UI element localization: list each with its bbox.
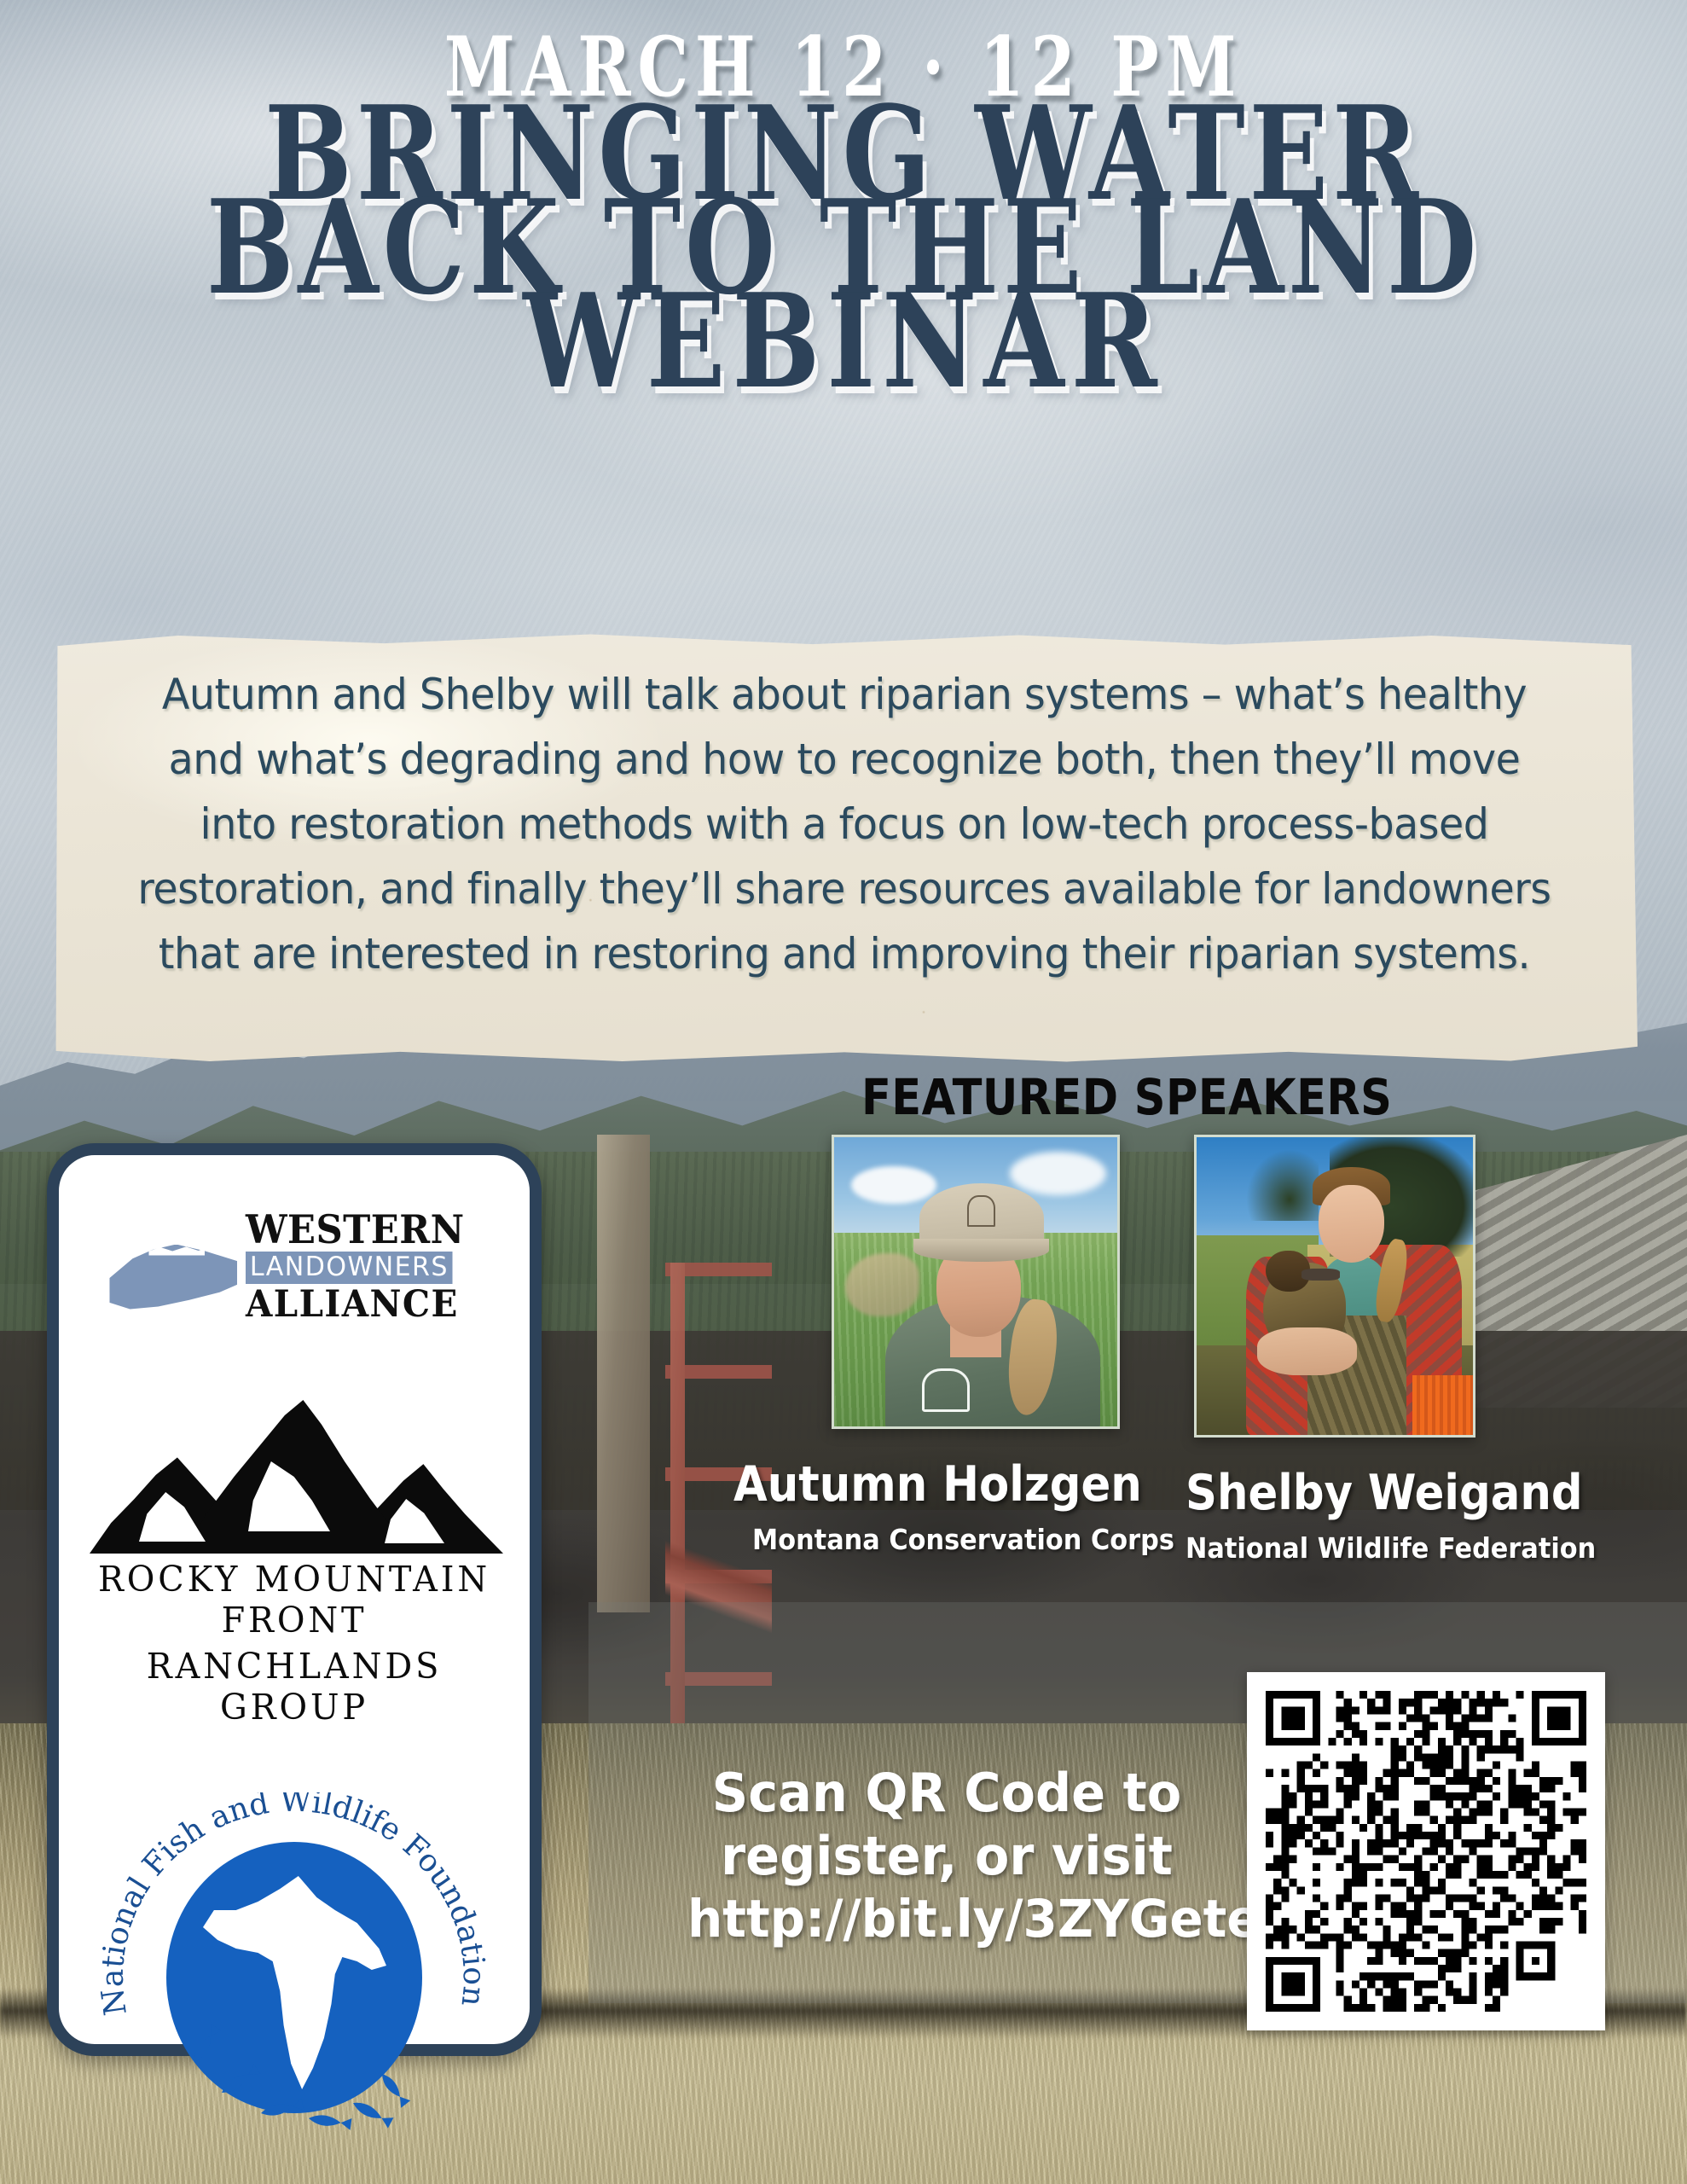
- speaker-card-autumn: Autumn Holzgen Montana Conservation Corp…: [733, 1135, 1211, 1556]
- register-line-1: Scan QR Code to: [712, 1762, 1181, 1824]
- register-line-2: register, or visit: [721, 1825, 1173, 1887]
- registration-instructions: Scan QR Code to register, or visit http:…: [687, 1762, 1206, 1951]
- speaker-name: Autumn Holzgen: [733, 1456, 1163, 1513]
- wla-line-3: ALLIANCE: [246, 1287, 459, 1323]
- photo-orange-crate: [1412, 1375, 1475, 1435]
- photo-shirt-logo: [922, 1368, 970, 1412]
- sponsor-logo-panel: WESTERN LANDOWNERS ALLIANCE ROCKY MOUNTA…: [47, 1143, 542, 2056]
- photo-trail: [845, 1253, 919, 1317]
- photo-face: [1319, 1185, 1385, 1263]
- wla-line-2: LANDOWNERS: [246, 1252, 453, 1284]
- national-fish-wildlife-foundation-logo: National Fish and Wildlife Foundation: [94, 1792, 495, 2022]
- speaker-card-shelby: Shelby Weigand National Wildlife Federat…: [1186, 1135, 1632, 1565]
- photo-cloud: [851, 1166, 936, 1204]
- rmf-line-2: RANCHLANDS GROUP: [88, 1646, 501, 1728]
- speaker-photo-autumn: [832, 1135, 1120, 1429]
- photo-duck-bill: [1301, 1269, 1340, 1281]
- photo-cloud: [1010, 1152, 1106, 1195]
- mountain-range-icon: [81, 1398, 507, 1554]
- fish-icons: [94, 1792, 495, 2151]
- speaker-name: Shelby Weigand: [1186, 1465, 1587, 1521]
- photo-arm: [1257, 1327, 1357, 1375]
- speaker-organization: National Wildlife Federation: [1186, 1531, 1596, 1565]
- fence-post: [597, 1135, 650, 1612]
- page-title: BRINGING WATER BACK TO THE LAND WEBINAR: [169, 107, 1518, 388]
- featured-speakers-heading: FEATURED SPEAKERS: [861, 1068, 1392, 1126]
- photo-tree: [1246, 1149, 1318, 1221]
- photo-cap-brim: [913, 1239, 1049, 1262]
- western-landowners-alliance-logo: WESTERN LANDOWNERS ALLIANCE: [109, 1210, 478, 1323]
- rocky-mountain-front-logo: ROCKY MOUNTAIN FRONT RANCHLANDS GROUP: [81, 1398, 507, 1728]
- photo-cap-logo: [967, 1195, 995, 1227]
- mountain-mark-icon: [109, 1219, 237, 1315]
- description-panel: Autumn and Shelby will talk about ripari…: [51, 633, 1638, 1064]
- webinar-poster: MARCH 12 · 12 PM BRINGING WATER BACK TO …: [0, 0, 1687, 2184]
- speakers-list: Autumn Holzgen Montana Conservation Corp…: [733, 1135, 1638, 1578]
- speaker-photo-shelby: [1194, 1135, 1475, 1438]
- wla-wordmark: WESTERN LANDOWNERS ALLIANCE: [246, 1210, 478, 1323]
- wla-line-1: WESTERN: [246, 1210, 465, 1249]
- registration-url[interactable]: http://bit.ly/3ZYGete: [687, 1888, 1206, 1951]
- speaker-organization: Montana Conservation Corps: [752, 1523, 1174, 1556]
- description-text: Autumn and Shelby will talk about ripari…: [133, 662, 1556, 986]
- rmf-line-1: ROCKY MOUNTAIN FRONT: [88, 1559, 501, 1641]
- qr-code[interactable]: [1247, 1672, 1605, 2030]
